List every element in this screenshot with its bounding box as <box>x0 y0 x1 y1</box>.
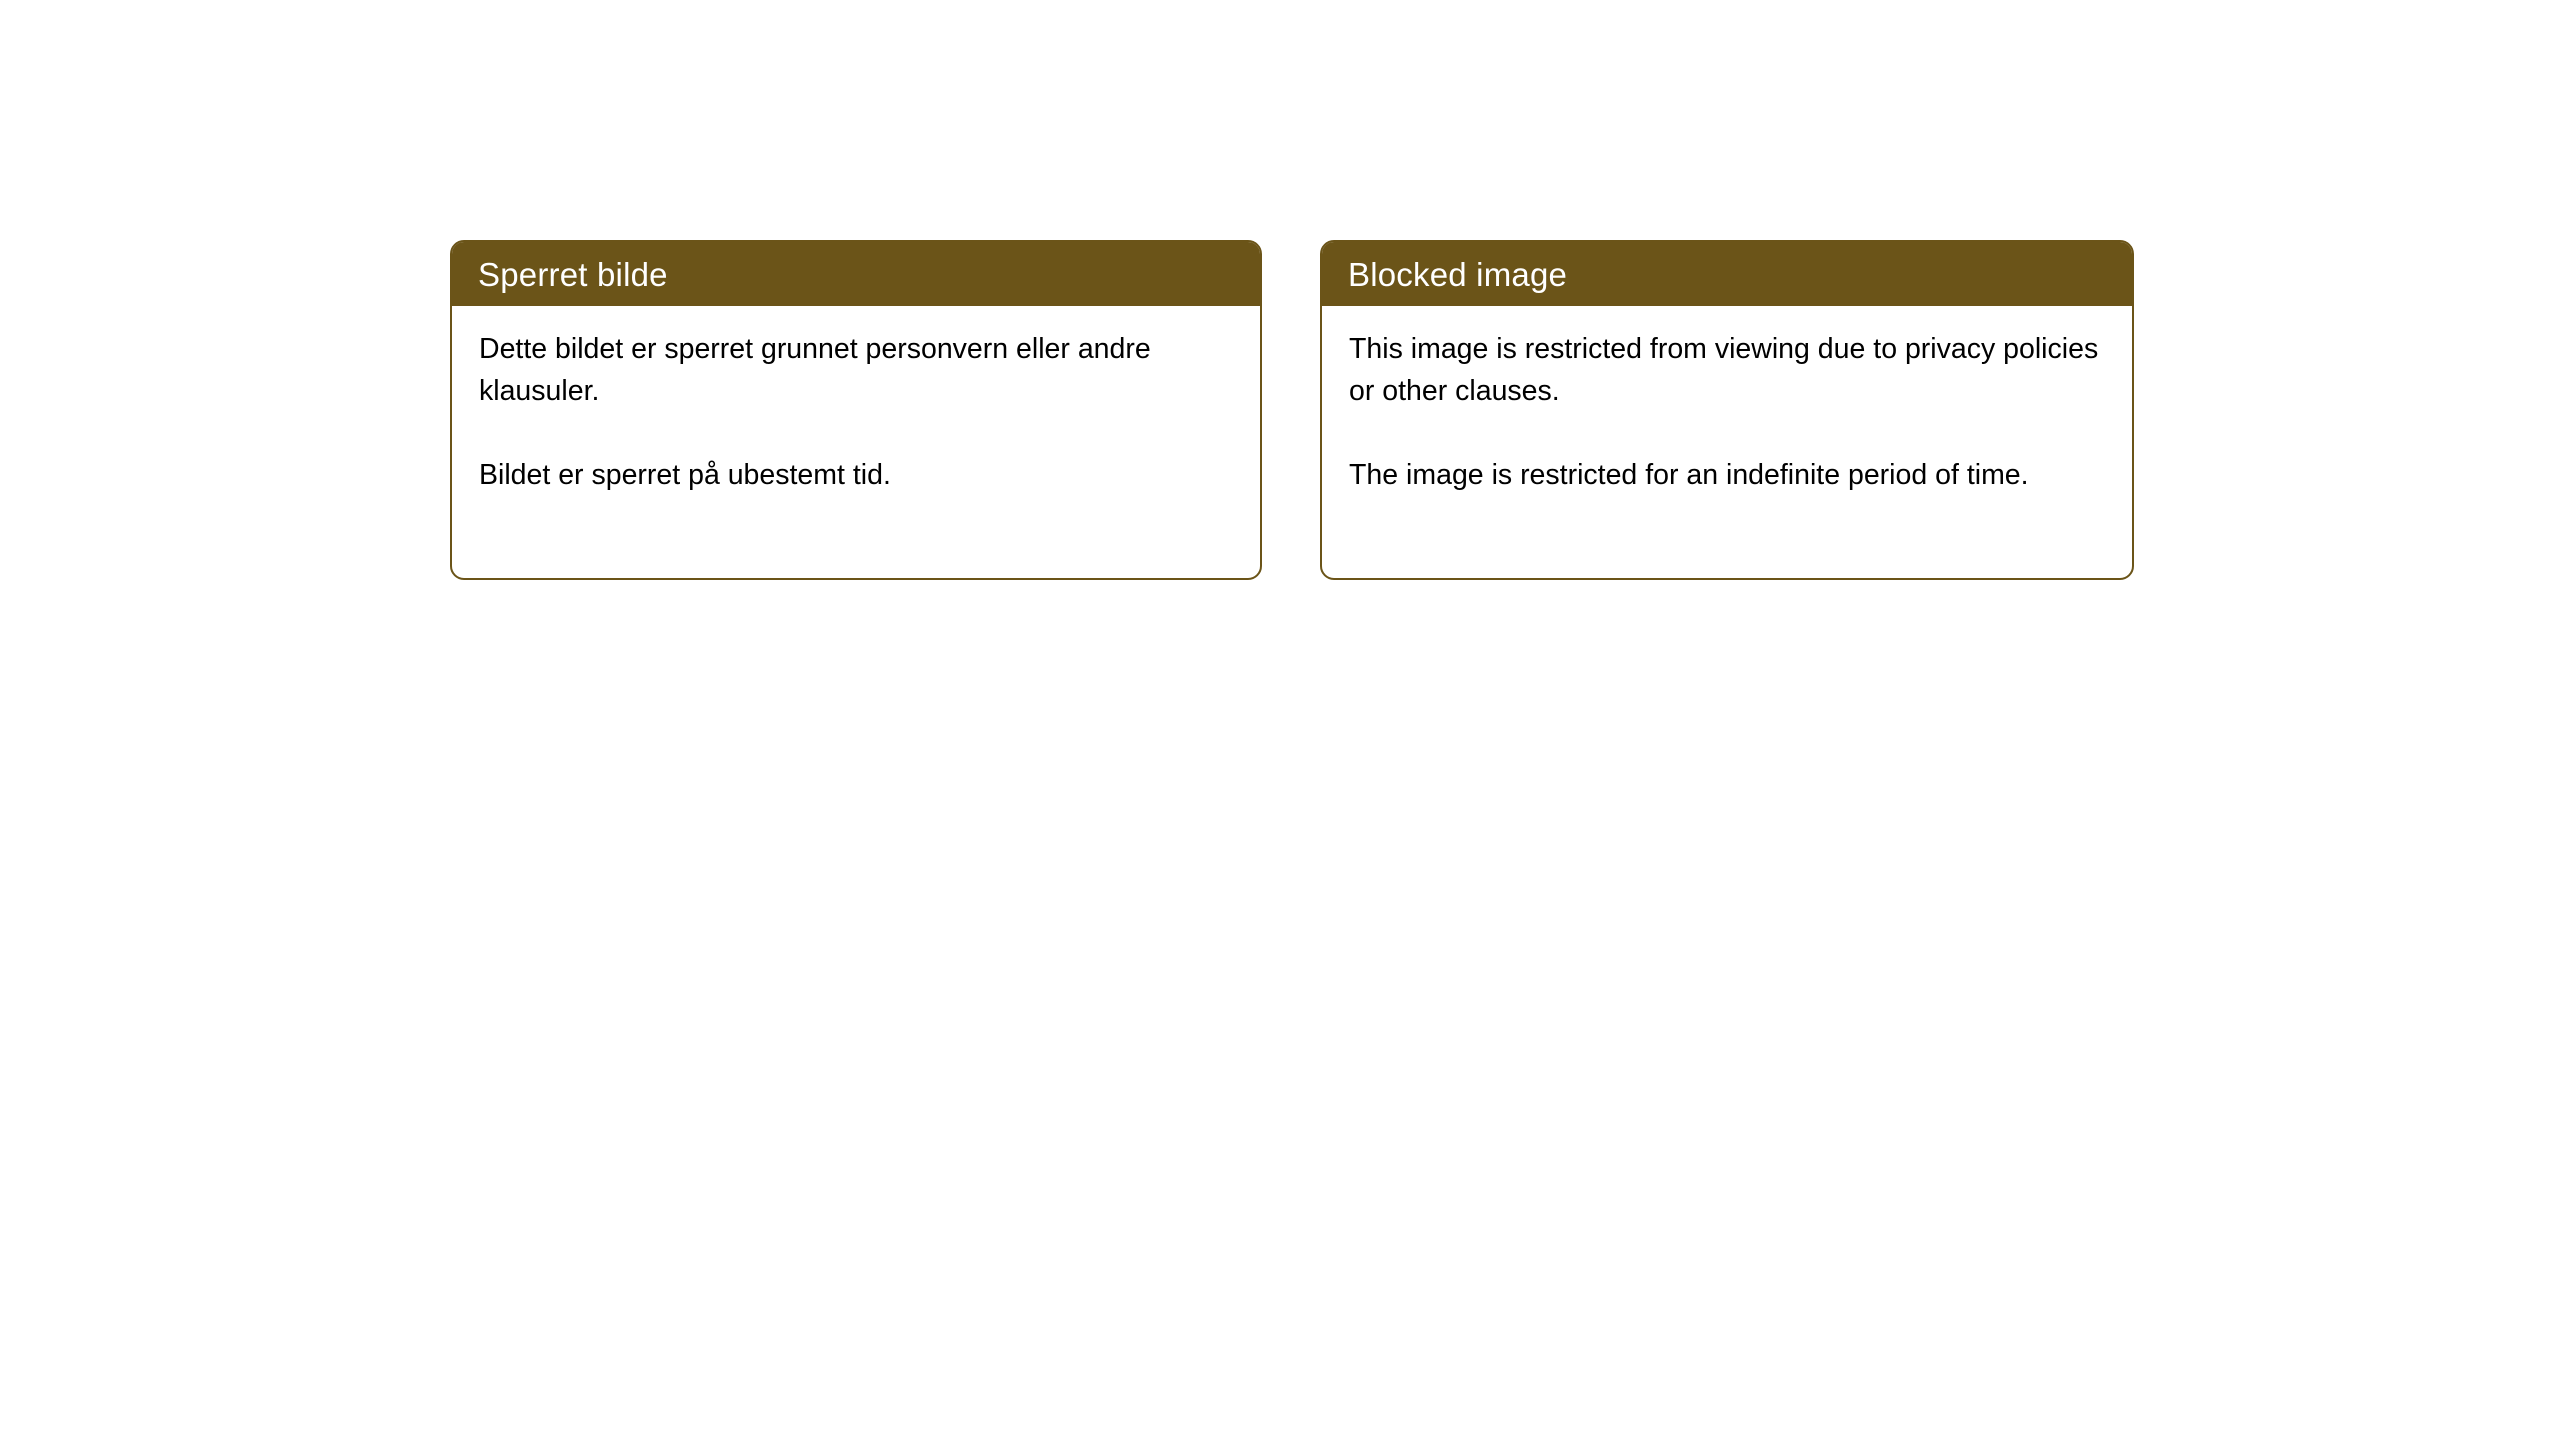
panel-body-norwegian: Dette bildet er sperret grunnet personve… <box>452 306 1260 578</box>
panel-paragraph-reason-norwegian: Dette bildet er sperret grunnet personve… <box>479 328 1234 412</box>
panel-paragraph-reason-english: This image is restricted from viewing du… <box>1349 328 2106 412</box>
blocked-image-notice-group: Sperret bilde Dette bildet er sperret gr… <box>450 240 2134 580</box>
panel-title-norwegian: Sperret bilde <box>452 242 1260 306</box>
blocked-image-panel-english: Blocked image This image is restricted f… <box>1320 240 2134 580</box>
panel-title-english: Blocked image <box>1322 242 2132 306</box>
panel-body-english: This image is restricted from viewing du… <box>1322 306 2132 578</box>
blocked-image-panel-norwegian: Sperret bilde Dette bildet er sperret gr… <box>450 240 1262 580</box>
panel-paragraph-duration-english: The image is restricted for an indefinit… <box>1349 454 2106 496</box>
panel-paragraph-duration-norwegian: Bildet er sperret på ubestemt tid. <box>479 454 1234 496</box>
